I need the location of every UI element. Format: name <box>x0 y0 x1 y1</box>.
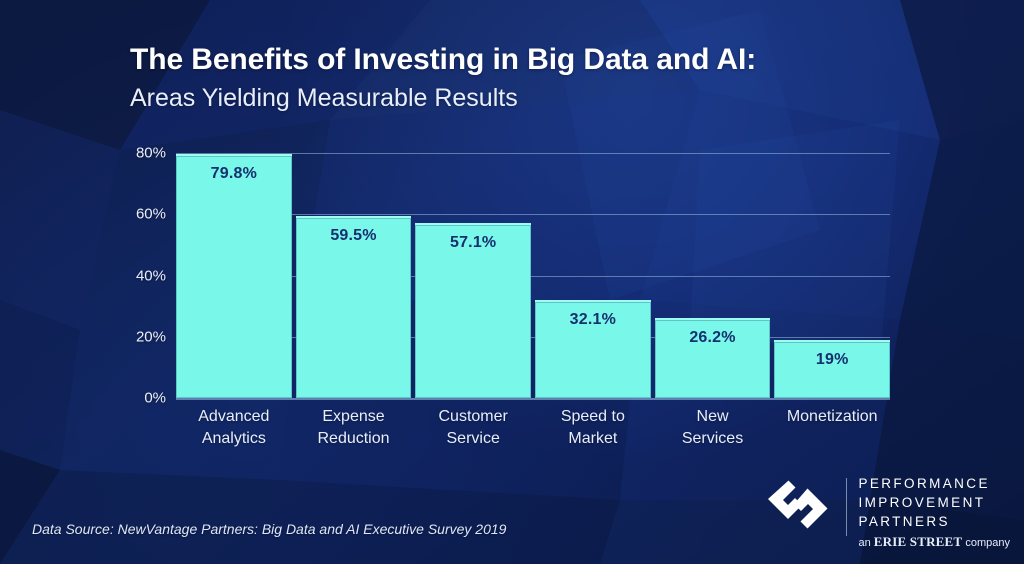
x-axis-category-label: AdvancedAnalytics <box>170 406 298 449</box>
title-block: The Benefits of Investing in Big Data an… <box>130 42 960 113</box>
logo-tagline-prefix: an <box>858 537 873 549</box>
x-axis-category-line: Services <box>649 428 777 450</box>
y-axis-tick-label: 0% <box>106 390 166 407</box>
x-axis-baseline <box>176 398 890 400</box>
bar-slot: 59.5%ExpenseReduction <box>296 153 412 398</box>
logo-divider <box>846 478 847 536</box>
x-axis-category-label: Speed toMarket <box>529 406 657 449</box>
x-axis-category-label: CustomerService <box>409 406 537 449</box>
bar-value-label: 79.8% <box>176 165 292 183</box>
bar-slot: 57.1%CustomerService <box>415 153 531 398</box>
y-axis-tick-label: 40% <box>106 267 166 284</box>
y-axis-tick-label: 20% <box>106 328 166 345</box>
interlocking-chevrons-icon <box>761 476 835 532</box>
bar-value-label: 26.2% <box>655 329 771 347</box>
x-axis-category-line: Expense <box>290 406 418 428</box>
x-axis-category-line: Speed to <box>529 406 657 428</box>
bar[interactable]: 26.2%NewServices <box>655 318 771 398</box>
bar[interactable]: 19%Monetization <box>774 340 890 398</box>
x-axis-category-line: Customer <box>409 406 537 428</box>
page-subtitle: Areas Yielding Measurable Results <box>130 83 960 113</box>
y-axis-tick-label: 60% <box>106 206 166 223</box>
bar[interactable]: 59.5%ExpenseReduction <box>296 216 412 398</box>
x-axis-category-line: Monetization <box>768 406 896 428</box>
bar-value-label: 32.1% <box>535 311 651 329</box>
x-axis-category-line: Service <box>409 428 537 450</box>
chart-plot-area: 79.8%AdvancedAnalytics59.5%ExpenseReduct… <box>176 153 890 398</box>
bar-value-label: 57.1% <box>415 234 531 252</box>
logo-line-1: PERFORMANCE <box>858 474 1010 493</box>
bar-slot: 32.1%Speed toMarket <box>535 153 651 398</box>
x-axis-category-label: ExpenseReduction <box>290 406 418 449</box>
bar[interactable]: 79.8%AdvancedAnalytics <box>176 154 292 398</box>
x-axis-category-line: Advanced <box>170 406 298 428</box>
bar-series: 79.8%AdvancedAnalytics59.5%ExpenseReduct… <box>176 153 890 398</box>
logo-line-3: PARTNERS <box>858 512 1010 531</box>
y-axis: 0%20%40%60%80% <box>106 153 166 398</box>
bar[interactable]: 32.1%Speed toMarket <box>535 300 651 398</box>
x-axis-category-line: Market <box>529 428 657 450</box>
page-title: The Benefits of Investing in Big Data an… <box>130 42 960 77</box>
logo-wordmark: PERFORMANCE IMPROVEMENT PARTNERS an ERIE… <box>858 472 1010 550</box>
logo-tagline-brand: ERIE STREET <box>874 534 963 549</box>
x-axis-category-line: New <box>649 406 777 428</box>
bar-value-label: 19% <box>774 351 890 369</box>
x-axis-category-label: Monetization <box>768 406 896 428</box>
bar-slot: 26.2%NewServices <box>655 153 771 398</box>
company-logo: PERFORMANCE IMPROVEMENT PARTNERS an ERIE… <box>761 472 1010 550</box>
x-axis-category-line: Reduction <box>290 428 418 450</box>
x-axis-category-line: Analytics <box>170 428 298 450</box>
bar-value-label: 59.5% <box>296 227 412 245</box>
bar[interactable]: 57.1%CustomerService <box>415 223 531 398</box>
bar-slot: 79.8%AdvancedAnalytics <box>176 153 292 398</box>
bar-slot: 19%Monetization <box>774 153 890 398</box>
slide-canvas: The Benefits of Investing in Big Data an… <box>0 0 1024 564</box>
source-note: Data Source: NewVantage Partners: Big Da… <box>32 521 506 537</box>
logo-tagline: an ERIE STREET company <box>858 534 1010 550</box>
y-axis-tick-label: 80% <box>106 145 166 162</box>
x-axis-category-label: NewServices <box>649 406 777 449</box>
logo-tagline-suffix: company <box>962 537 1010 549</box>
logo-line-2: IMPROVEMENT <box>858 493 1010 512</box>
